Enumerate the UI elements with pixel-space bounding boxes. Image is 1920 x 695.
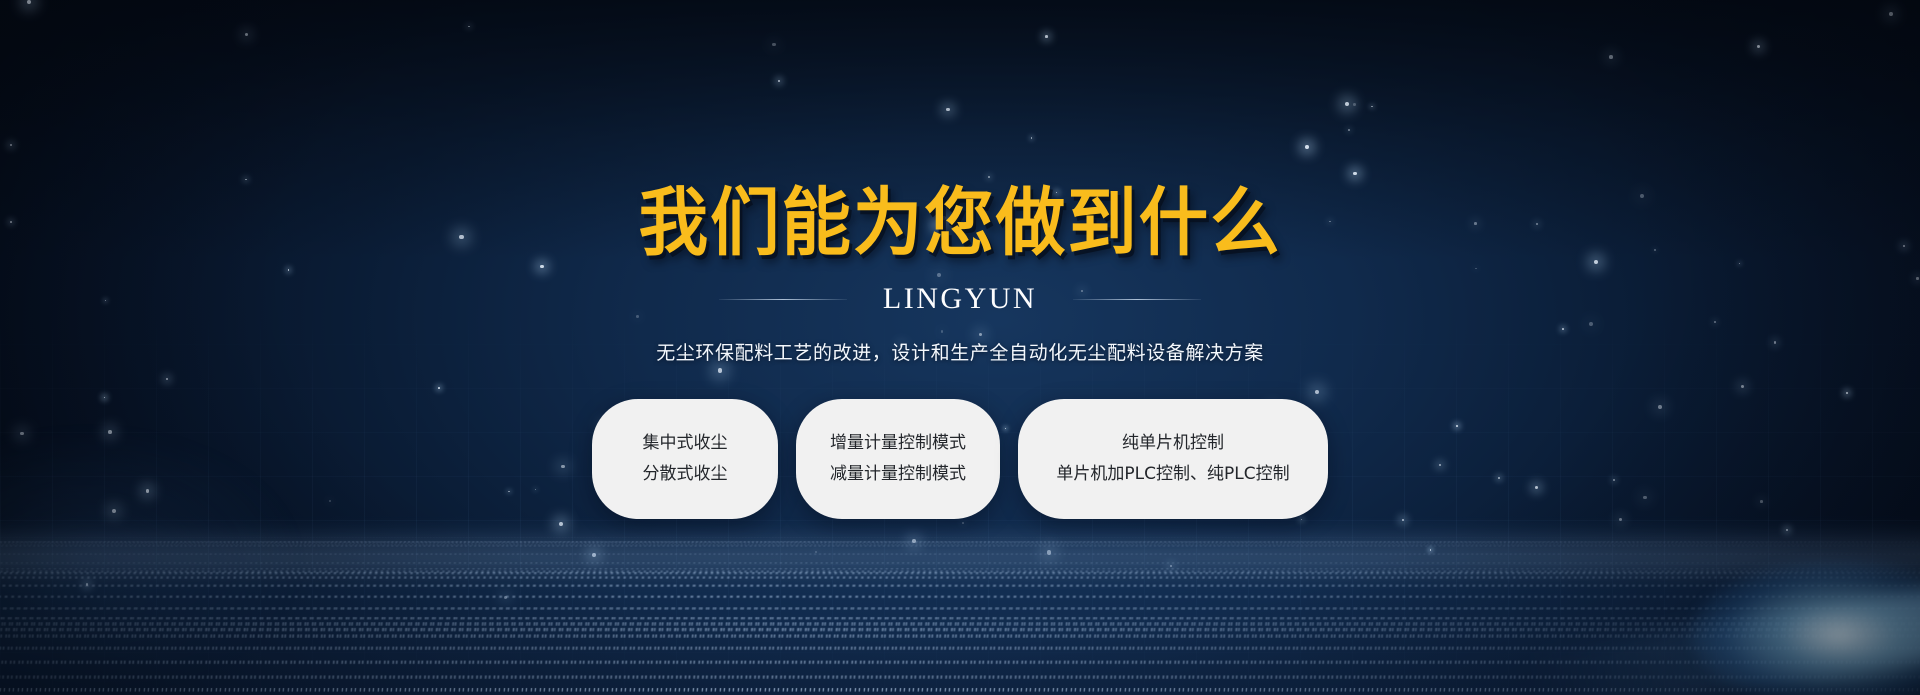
hero-content: 我们能为您做到什么 LINGYUN 无尘环保配料工艺的改进，设计和生产全自动化无… (0, 0, 1920, 695)
feature-card-line: 集中式收尘 (643, 435, 728, 452)
feature-card-line: 纯单片机控制 (1122, 435, 1224, 452)
feature-card-line: 分散式收尘 (643, 466, 728, 483)
feature-card-line: 增量计量控制模式 (830, 435, 966, 452)
divider-line-left (719, 299, 847, 300)
divider-line-right (1073, 299, 1201, 300)
feature-card-line: 单片机加PLC控制、纯PLC控制 (1056, 466, 1289, 483)
feature-card-control-system[interactable]: 纯单片机控制 单片机加PLC控制、纯PLC控制 (1018, 399, 1328, 519)
brand-divider-row: LINGYUN (719, 282, 1201, 316)
hero-banner: 我们能为您做到什么 LINGYUN 无尘环保配料工艺的改进，设计和生产全自动化无… (0, 0, 1920, 695)
feature-card-dust-collection[interactable]: 集中式收尘 分散式收尘 (592, 399, 778, 519)
brand-name: LINGYUN (883, 282, 1037, 316)
feature-card-row: 集中式收尘 分散式收尘 增量计量控制模式 减量计量控制模式 纯单片机控制 单片机… (592, 399, 1328, 519)
feature-card-line: 减量计量控制模式 (830, 466, 966, 483)
page-title: 我们能为您做到什么 (639, 186, 1282, 260)
hero-description: 无尘环保配料工艺的改进，设计和生产全自动化无尘配料设备解决方案 (656, 338, 1264, 365)
feature-card-metering-mode[interactable]: 增量计量控制模式 减量计量控制模式 (796, 399, 1000, 519)
